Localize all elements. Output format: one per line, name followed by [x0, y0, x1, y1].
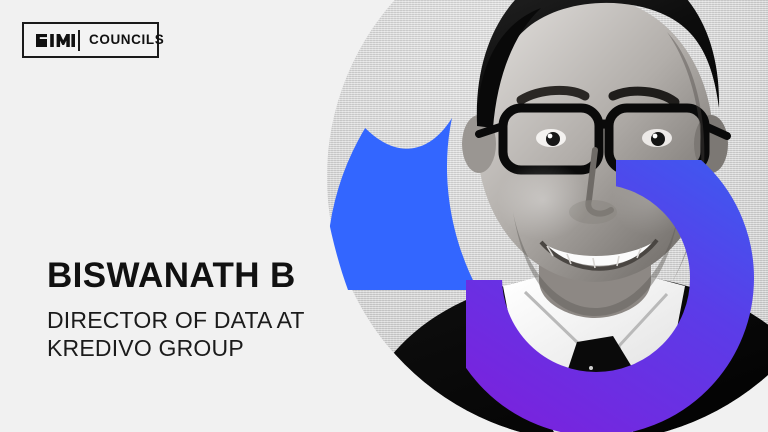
speaker-name: BISWANATH B [47, 258, 377, 293]
portrait-photo [327, 0, 768, 432]
speaker-info: BISWANATH B DIRECTOR OF DATA AT KREDIVO … [47, 258, 377, 362]
speaker-card: COUNCILS BISWANATH B DIRECTOR OF DATA AT… [0, 0, 768, 432]
brand-logo[interactable]: COUNCILS [22, 22, 159, 58]
speaker-role-line-2: KREDIVO GROUP [47, 334, 377, 362]
portrait-disc [327, 0, 768, 432]
vertical-divider-icon [78, 30, 80, 51]
brand-logo-word: COUNCILS [89, 33, 164, 47]
speaker-role: DIRECTOR OF DATA AT KREDIVO GROUP [47, 306, 377, 362]
aim-logotype-icon [36, 33, 76, 48]
speaker-role-line-1: DIRECTOR OF DATA AT [47, 306, 377, 334]
